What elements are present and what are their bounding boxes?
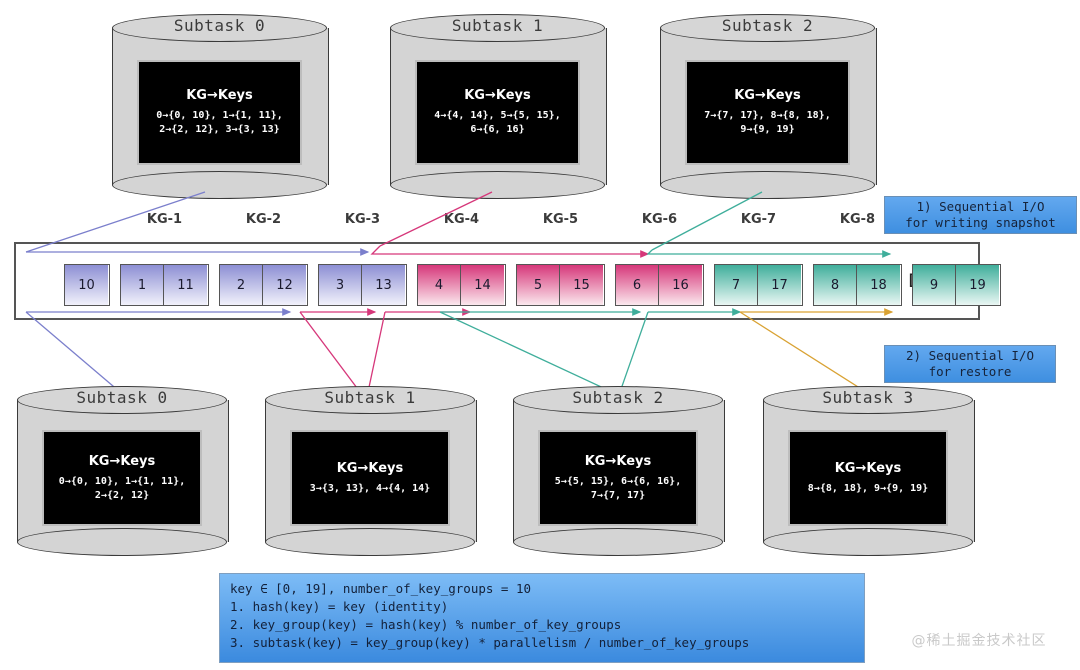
key-cell: 16 bbox=[659, 265, 702, 305]
key-cell: 14 bbox=[461, 265, 504, 305]
cylinder-bottom bbox=[763, 528, 973, 556]
key-cell: 10 bbox=[65, 265, 108, 305]
legend-line: 3. subtask(key) = key_group(key) * paral… bbox=[230, 634, 854, 652]
kg-keys-screen: KG→Keys 8→{8, 18}, 9→{9, 19} bbox=[788, 430, 948, 526]
watermark: @稀土掘金技术社区 bbox=[884, 630, 1074, 650]
kg-keys-header: KG→Keys bbox=[585, 454, 652, 469]
kg-keys-screen: KG→Keys 5→{5, 15}, 6→{6, 16}, 7→{7, 17} bbox=[538, 430, 698, 526]
kg-keys-screen: KG→Keys 0→{0, 10}, 1→{1, 11}, 2→{2, 12} bbox=[42, 430, 202, 526]
key-group-label-7: KG-7 bbox=[733, 212, 785, 227]
key-group-cells-6: 616 bbox=[615, 264, 704, 306]
legend-line: 2. key_group(key) = hash(key) % number_o… bbox=[230, 616, 854, 634]
restore-arrow-subtask-0 bbox=[26, 312, 290, 392]
subtask-title: Subtask 0 bbox=[112, 16, 327, 35]
key-cell: 17 bbox=[758, 265, 801, 305]
kg-keys-header: KG→Keys bbox=[186, 88, 253, 103]
cylinder-bottom bbox=[112, 171, 327, 199]
subtask-title: Subtask 2 bbox=[513, 388, 723, 407]
callout-line: for restore bbox=[889, 364, 1051, 380]
restore-arrow-subtask-2 bbox=[440, 312, 740, 392]
key-group-label-2: KG-2 bbox=[238, 212, 290, 227]
legend-line: key ∈ [0, 19], number_of_key_groups = 10 bbox=[230, 580, 854, 598]
key-group-label-3: KG-3 bbox=[337, 212, 389, 227]
snapshot-subtask-1: Subtask 1 KG→Keys 4→{4, 14}, 5→{5, 15}, … bbox=[390, 14, 605, 199]
key-cell: 13 bbox=[362, 265, 405, 305]
key-cell: 11 bbox=[164, 265, 207, 305]
key-group-label-5: KG-5 bbox=[535, 212, 587, 227]
callout-write-snapshot: 1) Sequential I/O for writing snapshot bbox=[884, 196, 1077, 234]
key-group-label-8: KG-8 bbox=[832, 212, 884, 227]
kg-keys-line: 0→{0, 10}, 1→{1, 11}, bbox=[156, 109, 282, 123]
cylinder-bottom bbox=[17, 528, 227, 556]
key-cell: 3 bbox=[319, 265, 362, 305]
key-cell: 7 bbox=[715, 265, 758, 305]
key-cell: 19 bbox=[956, 265, 999, 305]
key-group-cells-1: 111 bbox=[120, 264, 209, 306]
key-cell: 9 bbox=[913, 265, 956, 305]
restore-subtask-1: Subtask 1 KG→Keys 3→{3, 13}, 4→{4, 14} bbox=[265, 386, 475, 556]
cylinder-bottom bbox=[390, 171, 605, 199]
kg-keys-line: 0→{0, 10}, 1→{1, 11}, bbox=[59, 475, 185, 489]
restore-subtask-0: Subtask 0 KG→Keys 0→{0, 10}, 1→{1, 11}, … bbox=[17, 386, 227, 556]
key-cell: 5 bbox=[517, 265, 560, 305]
callout-line: for writing snapshot bbox=[889, 215, 1072, 231]
kg-keys-line: 7→{7, 17} bbox=[591, 489, 645, 503]
kg-keys-line: 6→{6, 16} bbox=[470, 123, 524, 137]
key-group-cells-0: 10 bbox=[64, 264, 110, 306]
key-cell: 18 bbox=[857, 265, 900, 305]
kg-keys-header: KG→Keys bbox=[734, 88, 801, 103]
key-group-label-6: KG-6 bbox=[634, 212, 686, 227]
formula-legend: key ∈ [0, 19], number_of_key_groups = 10… bbox=[219, 573, 865, 663]
callout-line: 2) Sequential I/O bbox=[889, 348, 1051, 364]
key-group-cells-2: 212 bbox=[219, 264, 308, 306]
key-group-cells-3: 313 bbox=[318, 264, 407, 306]
key-group-cells-4: 414 bbox=[417, 264, 506, 306]
restore-subtask-3: Subtask 3 KG→Keys 8→{8, 18}, 9→{9, 19} bbox=[763, 386, 973, 556]
kg-keys-screen: KG→Keys 0→{0, 10}, 1→{1, 11}, 2→{2, 12},… bbox=[137, 60, 302, 165]
key-cell: 15 bbox=[560, 265, 603, 305]
kg-keys-header: KG→Keys bbox=[464, 88, 531, 103]
kg-keys-screen: KG→Keys 3→{3, 13}, 4→{4, 14} bbox=[290, 430, 450, 526]
kg-keys-line: 4→{4, 14}, 5→{5, 15}, bbox=[434, 109, 560, 123]
subtask-title: Subtask 3 bbox=[763, 388, 973, 407]
callout-line: 1) Sequential I/O bbox=[889, 199, 1072, 215]
snapshot-subtask-2: Subtask 2 KG→Keys 7→{7, 17}, 8→{8, 18}, … bbox=[660, 14, 875, 199]
kg-keys-screen: KG→Keys 4→{4, 14}, 5→{5, 15}, 6→{6, 16} bbox=[415, 60, 580, 165]
callout-restore: 2) Sequential I/O for restore bbox=[884, 345, 1056, 383]
key-group-cells-8: 818 bbox=[813, 264, 902, 306]
key-cell: 12 bbox=[263, 265, 306, 305]
legend-line: 1. hash(key) = key (identity) bbox=[230, 598, 854, 616]
cylinder-bottom bbox=[265, 528, 475, 556]
subtask-title: Subtask 1 bbox=[265, 388, 475, 407]
key-cell: 2 bbox=[220, 265, 263, 305]
kg-keys-line: 2→{2, 12}, 3→{3, 13} bbox=[159, 123, 279, 137]
restore-subtask-2: Subtask 2 KG→Keys 5→{5, 15}, 6→{6, 16}, … bbox=[513, 386, 723, 556]
restore-arrow-subtask-1 bbox=[300, 312, 470, 392]
kg-keys-line: 9→{9, 19} bbox=[740, 123, 794, 137]
kg-keys-header: KG→Keys bbox=[337, 461, 404, 476]
cylinder-bottom bbox=[513, 528, 723, 556]
kg-keys-header: KG→Keys bbox=[89, 454, 156, 469]
key-group-cells-9: 919 bbox=[912, 264, 1001, 306]
kg-keys-line: 3→{3, 13}, 4→{4, 14} bbox=[310, 482, 430, 496]
key-cell: 8 bbox=[814, 265, 857, 305]
key-group-cells-7: 717 bbox=[714, 264, 803, 306]
subtask-title: Subtask 0 bbox=[17, 388, 227, 407]
key-group-label-1: KG-1 bbox=[139, 212, 191, 227]
kg-keys-line: 7→{7, 17}, 8→{8, 18}, bbox=[704, 109, 830, 123]
kg-keys-line: 8→{8, 18}, 9→{9, 19} bbox=[808, 482, 928, 496]
subtask-title: Subtask 1 bbox=[390, 16, 605, 35]
cylinder-bottom bbox=[660, 171, 875, 199]
subtask-title: Subtask 2 bbox=[660, 16, 875, 35]
diagram-canvas: Subtask 0 KG→Keys 0→{0, 10}, 1→{1, 11}, … bbox=[0, 0, 1080, 670]
kg-keys-header: KG→Keys bbox=[835, 461, 902, 476]
key-cell: 4 bbox=[418, 265, 461, 305]
key-group-cells-5: 515 bbox=[516, 264, 605, 306]
kg-keys-screen: KG→Keys 7→{7, 17}, 8→{8, 18}, 9→{9, 19} bbox=[685, 60, 850, 165]
restore-arrow-subtask-3 bbox=[740, 312, 892, 392]
key-group-label-4: KG-4 bbox=[436, 212, 488, 227]
kg-keys-line: 2→{2, 12} bbox=[95, 489, 149, 503]
key-cell: 1 bbox=[121, 265, 164, 305]
kg-keys-line: 5→{5, 15}, 6→{6, 16}, bbox=[555, 475, 681, 489]
key-cell: 6 bbox=[616, 265, 659, 305]
snapshot-subtask-0: Subtask 0 KG→Keys 0→{0, 10}, 1→{1, 11}, … bbox=[112, 14, 327, 199]
